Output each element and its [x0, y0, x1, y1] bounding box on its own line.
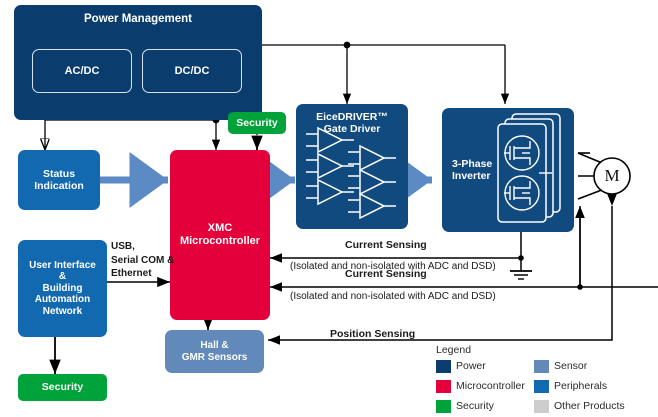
label-current-sensing-2-detail: (Isolated and non-isolated with ADC and … — [290, 291, 496, 302]
block-acdc[interactable]: AC/DC — [32, 49, 132, 93]
ui-line4: Automation — [35, 294, 91, 305]
label-current-sensing-1-title: Current Sensing — [285, 239, 658, 251]
block-security-bottom[interactable]: Security — [18, 374, 107, 401]
xmc-line1: XMC — [208, 222, 232, 234]
block-security-top[interactable]: Security — [228, 112, 286, 134]
legend-label-peripherals: Peripherals — [554, 380, 607, 392]
security-top-label: Security — [236, 117, 277, 129]
legend-label-other-products: Other Products — [554, 400, 625, 412]
power-to-mcu-line — [45, 117, 219, 150]
gate-driver-symbols — [296, 104, 408, 229]
status-indication-line1: Status — [43, 168, 75, 180]
label-current-sensing-2-title: Current Sensing — [345, 268, 427, 280]
inverter-mosfet-symbols — [442, 108, 582, 236]
comm-bus-line2: Serial COM & — [111, 255, 174, 266]
ui-line1: User Interface — [29, 260, 96, 271]
block-xmc-microcontroller[interactable]: XMC Microcontroller — [170, 150, 270, 320]
block-status-indication[interactable]: Status Indication — [18, 150, 100, 210]
legend-swatch-power — [436, 360, 451, 373]
block-dcdc[interactable]: DC/DC — [142, 49, 242, 93]
comm-bus-line1: USB, — [111, 241, 135, 252]
dcdc-label: DC/DC — [175, 65, 210, 78]
legend-swatch-peripherals — [534, 380, 549, 393]
ui-line3: Building — [42, 283, 82, 294]
label-position-sensing: Position Sensing — [330, 328, 415, 340]
legend-label-microcontroller: Microcontroller — [456, 380, 525, 392]
label-comm-bus: USB, Serial COM & Ethernet — [111, 240, 174, 281]
power-management-label: Power Management — [84, 13, 192, 26]
security-bottom-label: Security — [42, 381, 83, 393]
power-bus-lines — [262, 42, 505, 104]
legend: Legend Power Microcontroller Security Se… — [424, 342, 658, 417]
block-diagram-canvas: Power Management AC/DC DC/DC Security Ei… — [0, 0, 658, 417]
comm-bus-line3: Ethernet — [111, 268, 152, 279]
status-indication-line2: Indication — [34, 180, 84, 192]
xmc-line2: Microcontroller — [180, 235, 260, 247]
acdc-label: AC/DC — [65, 65, 100, 78]
motor-label: M — [594, 164, 630, 188]
hall-gmr-line1: Hall & — [200, 340, 228, 351]
legend-swatch-other-products — [534, 400, 549, 413]
ui-line2: & — [59, 271, 66, 282]
legend-label-sensor: Sensor — [554, 360, 587, 372]
legend-title: Legend — [436, 344, 471, 356]
legend-swatch-microcontroller — [436, 380, 451, 393]
block-user-interface[interactable]: User Interface & Building Automation Net… — [18, 240, 107, 337]
legend-swatch-sensor — [534, 360, 549, 373]
legend-swatch-security — [436, 400, 451, 413]
ui-line5: Network — [43, 306, 82, 317]
block-hall-gmr-sensors[interactable]: Hall & GMR Sensors — [165, 330, 264, 373]
legend-label-security: Security — [456, 400, 494, 412]
legend-label-power: Power — [456, 360, 486, 372]
hall-gmr-line2: GMR Sensors — [182, 352, 248, 363]
